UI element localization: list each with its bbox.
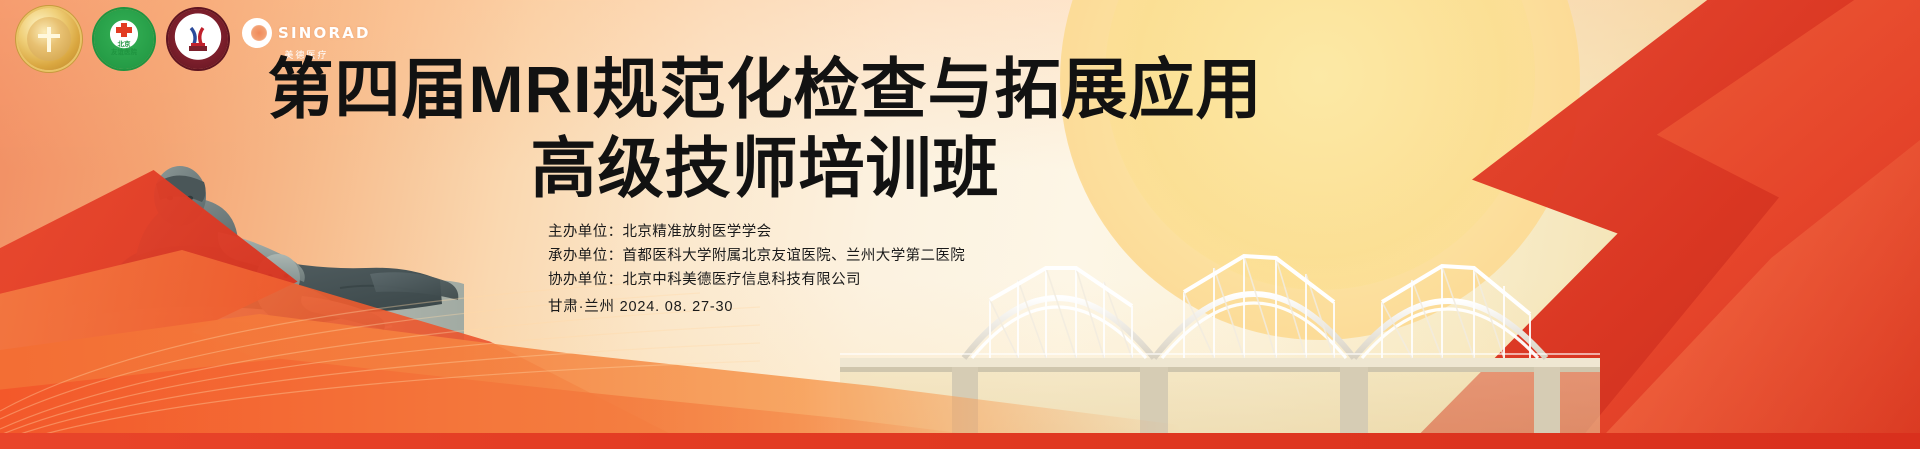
supporter-line: 协办单位：北京中科美德医疗信息科技有限公司 [548, 268, 1188, 292]
title-line-1: 第四届MRI规范化检查与拓展应用 [0, 56, 1530, 123]
sinorad-wordmark: SINORAD [278, 26, 371, 41]
conference-banner: 北京 友谊医院 SINORAD 美德医疗 第四届MRI规范化 [0, 0, 1920, 449]
co-organizer-line: 承办单位：首都医科大学附属北京友谊医院、兰州大学第二医院 [548, 244, 1188, 268]
organizer-line: 主办单位：北京精准放射医学学会 [548, 220, 1188, 244]
university-crest-icon [181, 22, 215, 56]
cross-and-doves-icon [111, 22, 137, 40]
title-line-2: 高级技师培训班 [0, 135, 1530, 202]
logo-text-line2: 友谊医院 [111, 49, 137, 56]
location-date-line: 甘肃·兰州 2024. 08. 27-30 [548, 295, 1188, 319]
cross-emblem-icon [32, 22, 66, 56]
banner-subtitle: 主办单位：北京精准放射医学学会 承办单位：首都医科大学附属北京友谊医院、兰州大学… [548, 220, 1188, 319]
banner-title: 第四届MRI规范化检查与拓展应用 高级技师培训班 [0, 56, 1530, 203]
logo-text-line1: 北京 [118, 41, 131, 48]
sinorad-mark-icon [242, 18, 272, 48]
bottom-red-strip [0, 433, 1920, 449]
